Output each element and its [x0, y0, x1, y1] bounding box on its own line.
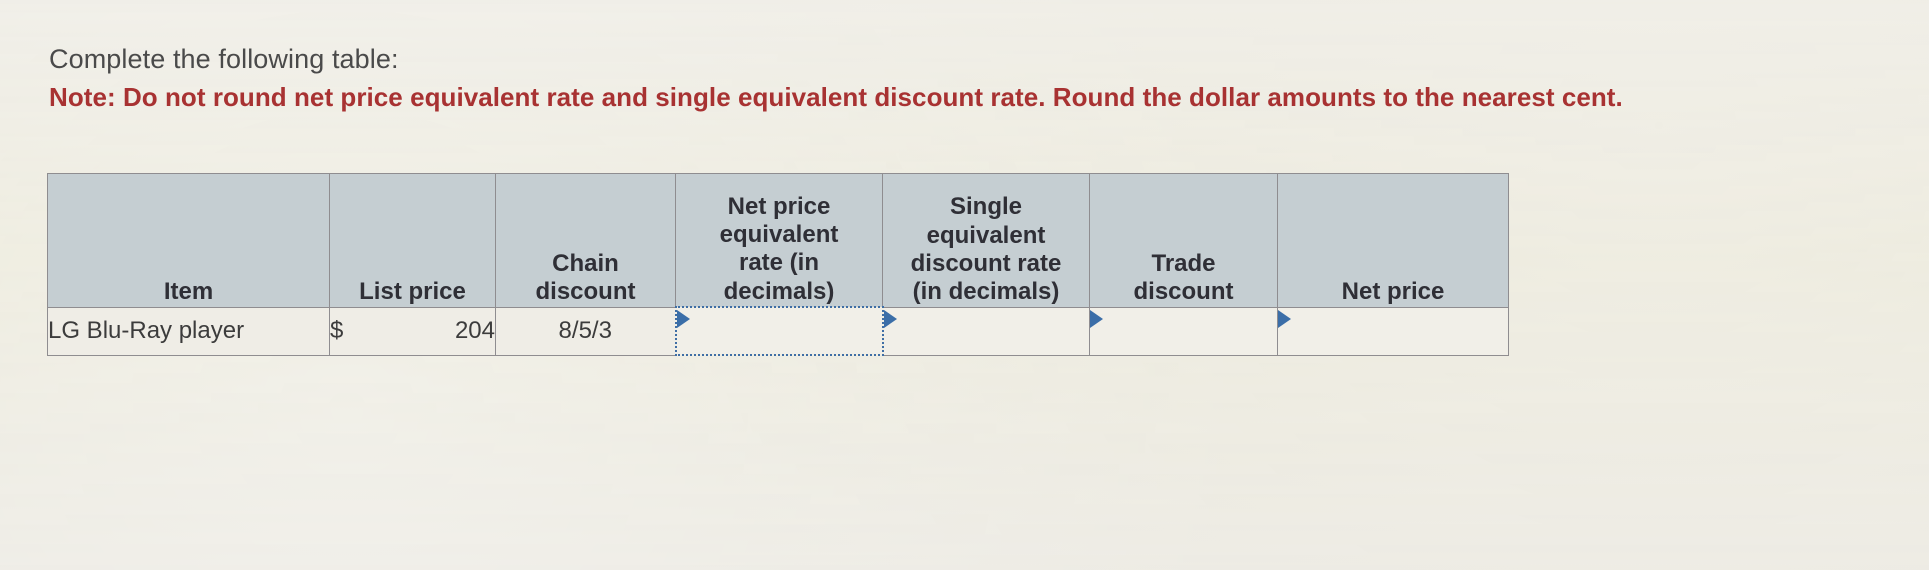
column-header-item: Item	[48, 174, 330, 308]
cell-selection-marker-icon	[1278, 310, 1291, 328]
column-header-single-equivalent-discount-rate-line-2: equivalent	[883, 222, 1089, 250]
cell-selection-marker-icon	[884, 310, 897, 328]
list-price-amount: 204	[455, 317, 495, 345]
column-header-single-equivalent-discount-rate: Single equivalent discount rate (in deci…	[883, 174, 1090, 308]
table-row: LG Blu-Ray player $ 204 8/5/3	[48, 307, 1509, 355]
cell-list-price: $ 204	[330, 307, 496, 355]
table-body: LG Blu-Ray player $ 204 8/5/3	[48, 307, 1509, 355]
currency-symbol: $	[330, 317, 343, 345]
page-title: Complete the following table:	[49, 44, 399, 75]
table-header-row: Item List price Chain discount Net price…	[48, 174, 1509, 308]
cell-chain-discount: 8/5/3	[496, 307, 676, 355]
column-header-trade-discount-line-1: Trade	[1090, 250, 1277, 278]
column-header-net-price-equivalent-rate-line-4: decimals)	[676, 278, 882, 306]
column-header-single-equivalent-discount-rate-line-4: (in decimals)	[883, 278, 1089, 306]
cell-selection-marker-icon	[1090, 310, 1103, 328]
input-trade-discount[interactable]	[1090, 307, 1278, 355]
column-header-net-price-line-1: Net price	[1278, 278, 1508, 306]
table-header: Item List price Chain discount Net price…	[48, 174, 1509, 308]
table-container: Item List price Chain discount Net price…	[47, 173, 1509, 356]
column-header-single-equivalent-discount-rate-line-1: Single	[883, 193, 1089, 221]
list-price-value-group: $ 204	[330, 317, 495, 345]
input-single-equivalent-discount-rate[interactable]	[883, 307, 1090, 355]
column-header-item-line-1: Item	[48, 278, 329, 306]
input-net-price[interactable]	[1278, 307, 1509, 355]
cell-selection-marker-icon	[677, 310, 690, 328]
column-header-net-price-equivalent-rate-line-2: equivalent	[676, 221, 882, 249]
cell-item-name: LG Blu-Ray player	[48, 307, 330, 355]
column-header-net-price-equivalent-rate-line-3: rate (in	[676, 249, 882, 277]
column-header-trade-discount-line-2: discount	[1090, 278, 1277, 306]
column-header-net-price-equivalent-rate: Net price equivalent rate (in decimals)	[676, 174, 883, 308]
column-header-net-price: Net price	[1278, 174, 1509, 308]
column-header-trade-discount: Trade discount	[1090, 174, 1278, 308]
column-header-list-price: List price	[330, 174, 496, 308]
rounding-note: Note: Do not round net price equivalent …	[49, 83, 1623, 113]
column-header-single-equivalent-discount-rate-line-3: discount rate	[883, 250, 1089, 278]
column-header-chain-discount-line-1: Chain	[496, 250, 675, 278]
column-header-chain-discount: Chain discount	[496, 174, 676, 308]
column-header-chain-discount-line-2: discount	[496, 278, 675, 306]
column-header-net-price-equivalent-rate-line-1: Net price	[676, 193, 882, 221]
input-net-price-equivalent-rate[interactable]	[676, 307, 883, 355]
discount-table: Item List price Chain discount Net price…	[47, 173, 1509, 356]
column-header-list-price-line-1: List price	[330, 278, 495, 306]
